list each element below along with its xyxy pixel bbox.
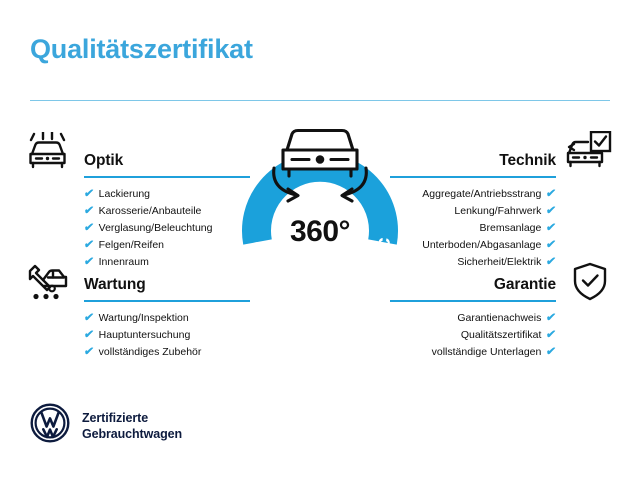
check-icon: ✔ (546, 257, 557, 269)
list-item: ✔ vollständiges Zubehör (84, 344, 250, 361)
badge-360-gebrauchtwagen-check: Gebrauchtwagen-Check (224, 116, 416, 316)
check-icon: ✔ (83, 347, 94, 359)
check-icon: ✔ (83, 206, 94, 218)
list-item-label: vollständiges Zubehör (99, 344, 202, 361)
check-icon: ✔ (546, 189, 557, 201)
check-icon: ✔ (83, 189, 94, 201)
wrench-car-icon (26, 262, 70, 307)
section-title-optik: Optik (84, 152, 123, 170)
list-item: ✔ Hauptuntersuchung (84, 327, 250, 344)
list-item-label: Qualitätszertifikat (461, 327, 542, 344)
check-icon: ✔ (546, 240, 557, 252)
section-title-wartung: Wartung (84, 276, 146, 294)
list-item-label: Wartung/Inspektion (99, 310, 189, 327)
checklist-garantie: Garantienachweis ✔ Qualitätszertifikat ✔… (390, 310, 556, 361)
car-shine-icon (26, 132, 70, 177)
check-icon: ✔ (546, 223, 557, 235)
list-item-label: Verglasung/Beleuchtung (99, 220, 213, 237)
list-item-label: Felgen/Reifen (99, 237, 164, 254)
checklist-wartung: ✔ Wartung/Inspektion ✔ Hauptuntersuchung… (84, 310, 250, 361)
footer-brand: Zertifizierte Gebrauchtwagen (30, 403, 182, 448)
list-item-label: vollständige Unterlagen (432, 344, 542, 361)
volkswagen-logo (30, 403, 70, 448)
list-item-label: Sicherheit/Elektrik (457, 254, 541, 271)
section-title-garantie: Garantie (494, 276, 556, 294)
list-item-label: Karosserie/Anbauteile (99, 203, 202, 220)
list-item: vollständige Unterlagen ✔ (390, 344, 556, 361)
list-item-label: Innenraum (99, 254, 149, 271)
check-icon: ✔ (83, 240, 94, 252)
footer-line-1: Zertifizierte (82, 410, 182, 426)
check-icon: ✔ (546, 330, 557, 342)
section-title-technik: Technik (499, 152, 556, 170)
check-icon: ✔ (83, 257, 94, 269)
list-item: Qualitätszertifikat ✔ (390, 327, 556, 344)
list-item-label: Garantienachweis (457, 310, 541, 327)
check-icon: ✔ (83, 223, 94, 235)
list-item-label: Aggregate/Antriebsstrang (422, 186, 541, 203)
check-icon: ✔ (546, 206, 557, 218)
list-item-label: Lackierung (99, 186, 150, 203)
list-item-label: Hauptuntersuchung (99, 327, 191, 344)
page-title: Qualitätszertifikat (30, 34, 253, 65)
car-checkbox-icon (566, 131, 612, 178)
title-divider (30, 100, 610, 101)
footer-text: Zertifizierte Gebrauchtwagen (82, 410, 182, 442)
check-icon: ✔ (546, 347, 557, 359)
certificate-page: Qualitätszertifikat (0, 0, 640, 480)
list-item-label: Unterboden/Abgasanlage (422, 237, 541, 254)
list-item-label: Bremsanlage (479, 220, 541, 237)
list-item-label: Lenkung/Fahrwerk (454, 203, 541, 220)
check-icon: ✔ (83, 313, 94, 325)
car-front-rotate-icon (274, 131, 367, 202)
check-icon: ✔ (546, 313, 557, 325)
footer-line-2: Gebrauchtwagen (82, 426, 182, 442)
badge-center-label: 360° (224, 215, 416, 249)
check-icon: ✔ (83, 330, 94, 342)
shield-check-icon (572, 262, 608, 307)
